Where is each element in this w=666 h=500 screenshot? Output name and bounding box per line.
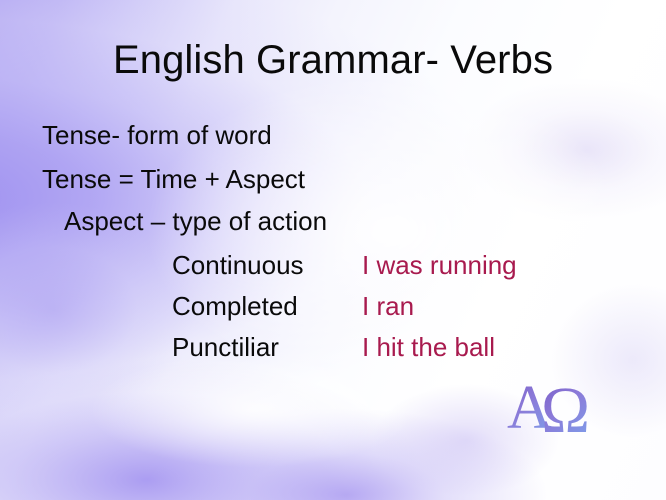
- slide: English Grammar- Verbs Tense- form of wo…: [0, 0, 666, 500]
- slide-title: English Grammar- Verbs: [0, 36, 666, 84]
- body-line-tense-formula: Tense = Time + Aspect: [42, 164, 305, 194]
- table-row: Completed I ran: [172, 291, 517, 332]
- body-line-aspect-definition: Aspect – type of action: [64, 206, 327, 236]
- omega-glyph: Ω: [541, 374, 590, 442]
- aspect-name-continuous: Continuous: [172, 250, 362, 280]
- aspect-name-punctiliar: Punctiliar: [172, 332, 362, 362]
- alpha-omega-logo-icon: Α Ω: [505, 370, 605, 442]
- aspect-name-completed: Completed: [172, 291, 362, 321]
- aspect-table: Continuous I was running Completed I ran…: [172, 250, 517, 373]
- aspect-example-punctiliar: I hit the ball: [362, 332, 495, 362]
- table-row: Continuous I was running: [172, 250, 517, 291]
- table-row: Punctiliar I hit the ball: [172, 332, 517, 373]
- aspect-example-completed: I ran: [362, 291, 414, 321]
- body-line-tense-definition: Tense- form of word: [42, 120, 272, 150]
- aspect-example-continuous: I was running: [362, 250, 517, 280]
